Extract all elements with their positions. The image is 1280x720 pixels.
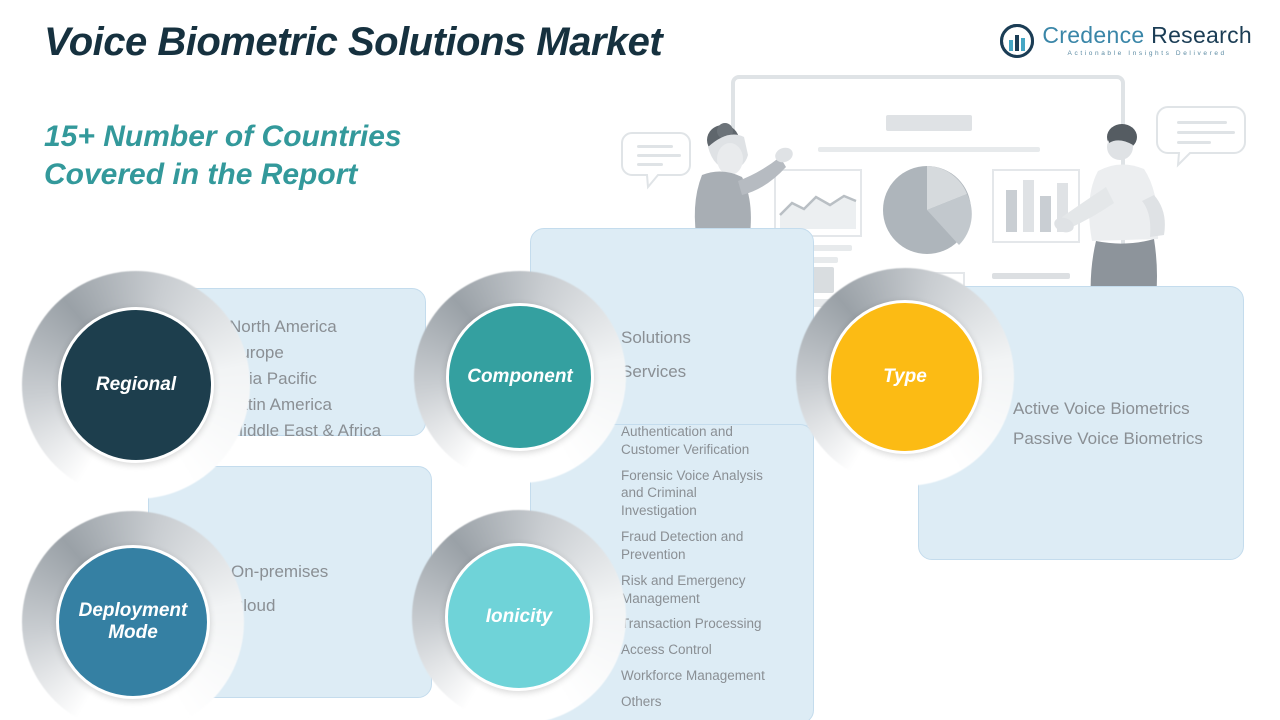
list-item: Authentication and Customer Verification (621, 423, 813, 459)
list-item: Workforce Management (621, 667, 813, 685)
list-item: Europe (229, 340, 429, 366)
infographic-canvas: Voice Biometric Solutions Market 15+ Num… (0, 0, 1280, 720)
list-ionicity: Authentication and Customer Verification… (621, 423, 813, 711)
node-label-deployment-mode[interactable]: Deployment Mode (56, 545, 210, 699)
list-type: Active Voice Biometrics Passive Voice Bi… (1013, 394, 1263, 455)
node-deployment-mode[interactable]: Deployment Mode (22, 511, 244, 720)
list-component: Solutions Services (621, 321, 811, 389)
logo-tagline: Actionable Insights Delivered (1042, 51, 1252, 58)
logo-name: Credence Research (1042, 24, 1252, 47)
node-label-ionicity[interactable]: Ionicity (445, 543, 593, 691)
node-type[interactable]: Type (796, 268, 1014, 486)
list-item: Passive Voice Biometrics (1013, 424, 1263, 454)
list-item: Services (621, 355, 811, 389)
node-label-component[interactable]: Component (446, 303, 594, 451)
list-item: Risk and Emergency Management (621, 572, 813, 608)
bar-chart (993, 170, 1079, 242)
list-item: Fraud Detection and Prevention (621, 528, 813, 564)
node-regional[interactable]: Regional (22, 271, 250, 499)
list-item: Forensic Voice Analysis and Criminal Inv… (621, 467, 813, 520)
presenter-right (1052, 124, 1165, 311)
node-component[interactable]: Component (414, 271, 626, 483)
page-title: Voice Biometric Solutions Market (44, 20, 662, 65)
list-deployment-mode: On-premises Cloud (231, 555, 431, 623)
list-item: Asia Pacific (229, 366, 429, 392)
speech-bubble-right (1157, 107, 1245, 165)
subtitle: 15+ Number of Countries Covered in the R… (44, 118, 402, 195)
list-item: Solutions (621, 321, 811, 355)
logo-name-bold: Research (1151, 22, 1252, 48)
node-ionicity[interactable]: Ionicity (412, 510, 626, 720)
list-item: Latin America (229, 392, 429, 418)
list-item: Others (621, 693, 813, 711)
logo-name-light: Credence (1042, 22, 1151, 48)
list-item: Active Voice Biometrics (1013, 394, 1263, 424)
list-regional: North America Europe Asia Pacific Latin … (229, 314, 429, 444)
list-item: On-premises (231, 555, 431, 589)
list-item: Cloud (231, 589, 431, 623)
bar-chart-circle-icon (1000, 24, 1034, 58)
speech-bubble-left (622, 133, 690, 187)
list-item: Access Control (621, 641, 813, 659)
node-label-type[interactable]: Type (828, 300, 982, 454)
list-item: Middle East & Africa (229, 418, 429, 444)
node-label-regional[interactable]: Regional (58, 307, 214, 463)
placeholder-bar (886, 115, 972, 131)
pie-chart (883, 166, 972, 254)
list-item: Transaction Processing (621, 615, 813, 633)
list-item: North America (229, 314, 429, 340)
area-chart (775, 170, 861, 236)
placeholder-line (818, 147, 1040, 152)
company-logo: Credence Research Actionable Insights De… (1000, 24, 1252, 58)
